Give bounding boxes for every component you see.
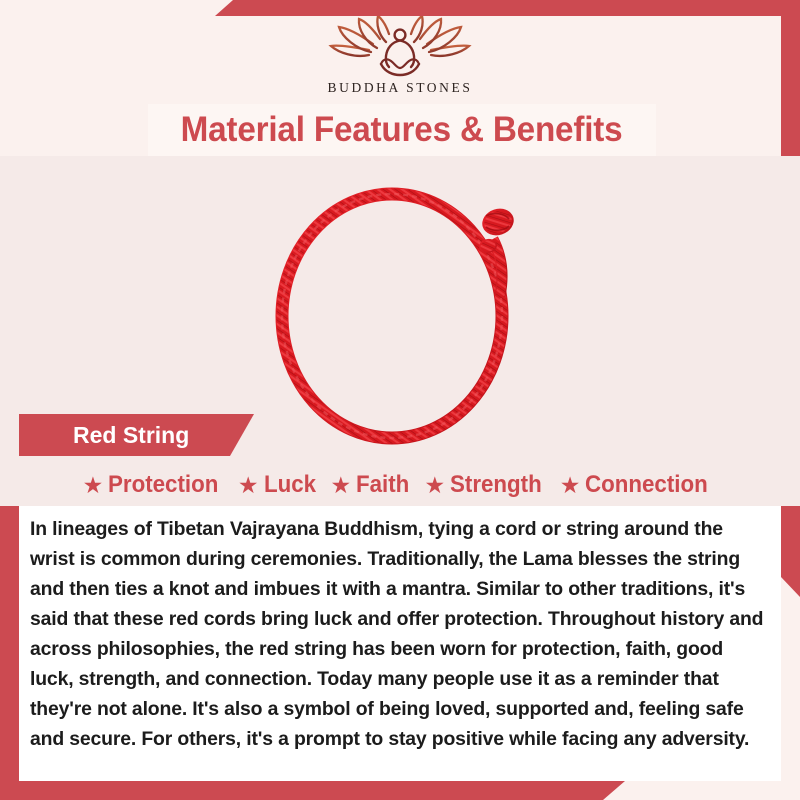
benefit-label: Connection [585, 471, 708, 499]
benefit-item-protection: ★ Protection [83, 471, 227, 499]
title-banner: Material Features & Benefits [148, 104, 656, 156]
material-label-ribbon: Red String [19, 414, 254, 456]
brand-header: BUDDHA STONES [0, 16, 800, 104]
benefit-item-luck: ★ Luck [238, 471, 320, 499]
star-icon: ★ [331, 474, 352, 497]
description-text: In lineages of Tibetan Vajrayana Buddhis… [30, 514, 767, 754]
star-icon: ★ [424, 474, 445, 497]
benefit-label: Faith [356, 471, 409, 499]
decor-bar-top [215, 0, 800, 16]
infographic-page: BUDDHA STONES Material Features & Benefi… [0, 0, 800, 800]
description-panel: In lineages of Tibetan Vajrayana Buddhis… [19, 506, 781, 781]
benefit-label: Luck [264, 471, 316, 499]
star-icon: ★ [560, 474, 581, 497]
brand-name: BUDDHA STONES [328, 80, 473, 96]
benefit-item-strength: ★ Strength [424, 471, 548, 499]
star-icon: ★ [238, 474, 259, 497]
material-label: Red String [19, 422, 189, 449]
benefit-label: Protection [108, 471, 218, 499]
benefit-item-connection: ★ Connection [560, 471, 718, 499]
star-icon: ★ [83, 474, 104, 497]
decor-bar-bottom [0, 781, 625, 800]
red-braided-string-bracelet-image [250, 164, 550, 464]
lotus-meditation-figure-icon [325, 16, 475, 78]
benefit-label: Strength [450, 471, 542, 499]
benefit-item-faith: ★ Faith [331, 471, 414, 499]
page-title: Material Features & Benefits [181, 110, 623, 150]
benefits-row: ★ Protection ★ Luck ★ Faith ★ Strength ★… [19, 466, 781, 504]
